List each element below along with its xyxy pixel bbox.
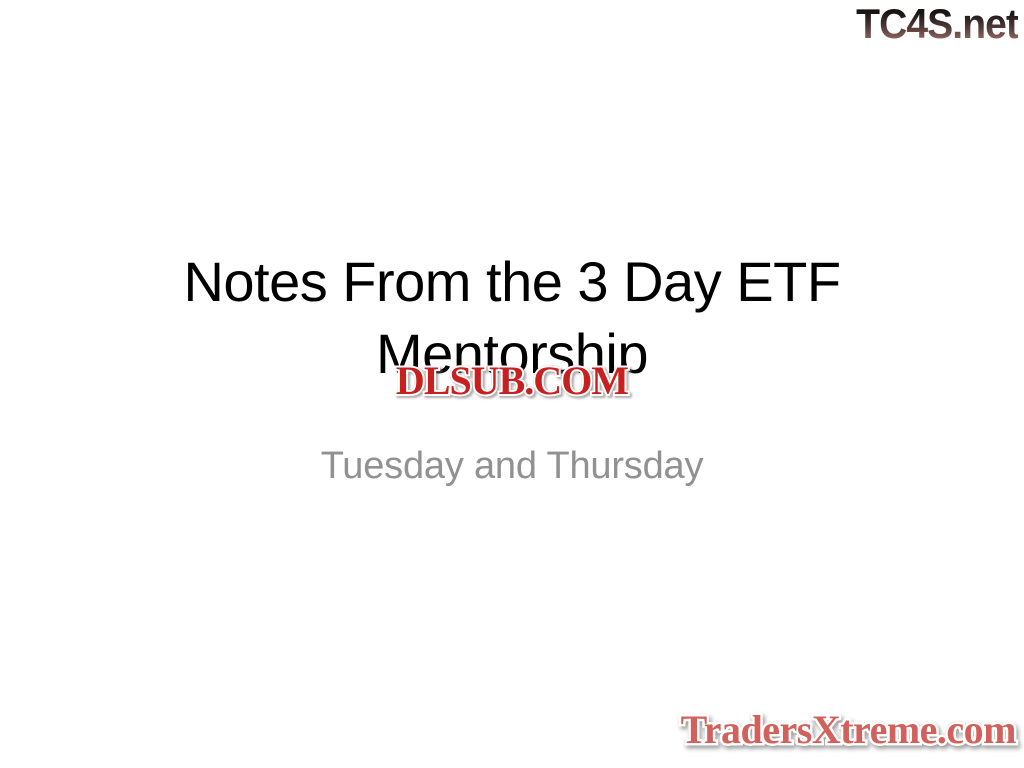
tc4s-logo-watermark: TC4S.net <box>856 2 1018 46</box>
dlsub-watermark: DLSUB.COM <box>396 360 628 402</box>
tradersxtreme-logo-text: TradersXtreme.com <box>681 707 1016 752</box>
presentation-slide: TC4S.net Notes From the 3 Day ETF Mentor… <box>0 0 1024 768</box>
slide-subtitle: Tuesday and Thursday <box>0 443 1024 489</box>
dlsub-watermark-text: DLSUB.COM <box>396 358 628 403</box>
slide-title-line-1: Notes From the 3 Day ETF <box>0 246 1024 318</box>
tradersxtreme-logo-watermark: TradersXtreme.com <box>681 708 1016 752</box>
